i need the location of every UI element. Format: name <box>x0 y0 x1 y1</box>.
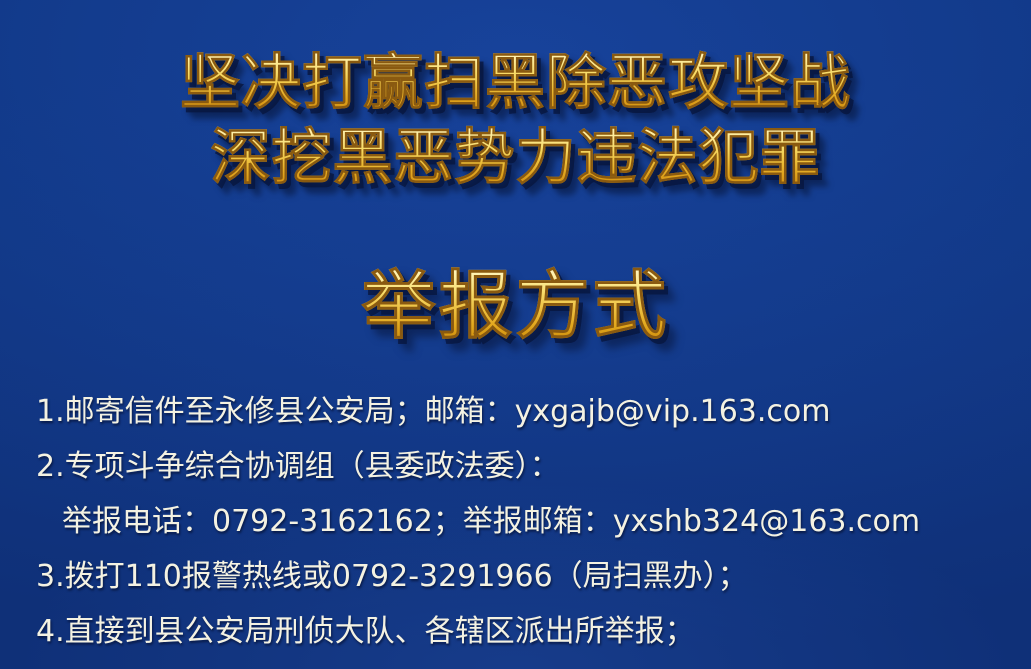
reporting-methods-list: 1.邮寄信件至永修县公安局；邮箱：yxgajb@vip.163.com 2.专项… <box>36 384 1013 659</box>
section-heading-block: 举报方式 <box>0 264 1031 348</box>
list-item-2-sub: 举报电话：0792-3162162；举报邮箱：yxshb324@163.com <box>36 494 1013 549</box>
headline-line-2: 深挖黑恶势力违法犯罪 <box>0 123 1031 193</box>
headline-block: 坚决打赢扫黑除恶攻坚战 深挖黑恶势力违法犯罪 <box>0 48 1031 193</box>
headline-line-1: 坚决打赢扫黑除恶攻坚战 <box>0 48 1031 118</box>
list-item-3: 3.拨打110报警热线或0792-3291966（局扫黑办）； <box>36 549 1013 604</box>
list-item-2: 2.专项斗争综合协调组（县委政法委）： <box>36 439 1013 494</box>
list-item-1: 1.邮寄信件至永修县公安局；邮箱：yxgajb@vip.163.com <box>36 384 1013 439</box>
section-heading-reporting-methods: 举报方式 <box>362 264 670 348</box>
poster-root: 坚决打赢扫黑除恶攻坚战 深挖黑恶势力违法犯罪 举报方式 1.邮寄信件至永修县公安… <box>0 0 1031 669</box>
list-item-4: 4.直接到县公安局刑侦大队、各辖区派出所举报； <box>36 604 1013 659</box>
